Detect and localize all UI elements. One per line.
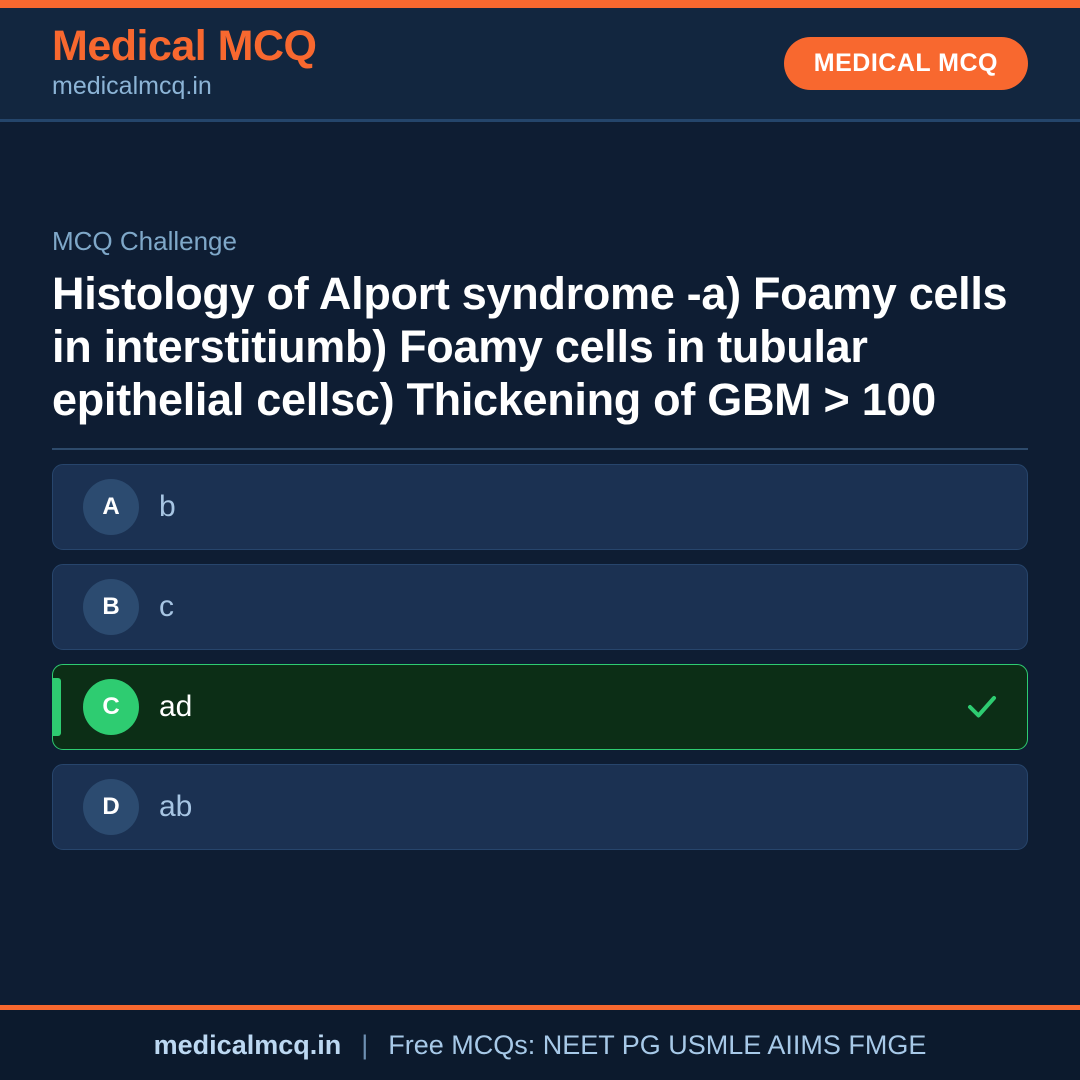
footer-separator: | (353, 1030, 376, 1061)
option-row-b[interactable]: B c (52, 564, 1028, 650)
question-text: Histology of Alport syndrome -a) Foamy c… (52, 267, 1028, 426)
option-row-d[interactable]: D ab (52, 764, 1028, 850)
option-text-d: ab (159, 789, 999, 825)
correct-accent-bar (53, 678, 61, 736)
option-badge-d: D (83, 779, 139, 835)
options-list: A b B c C (52, 464, 1028, 850)
top-accent-bar (0, 0, 1080, 8)
section-divider (52, 448, 1028, 450)
option-badge-c: C (83, 679, 139, 735)
page-footer: medicalmcq.in | Free MCQs: NEET PG USMLE… (0, 1005, 1080, 1080)
header-badge-pill: MEDICAL MCQ (784, 37, 1028, 90)
main-content: MCQ Challenge Histology of Alport syndro… (0, 122, 1080, 1005)
option-text-b: c (159, 589, 999, 625)
option-row-c[interactable]: C ad (52, 664, 1028, 750)
check-icon (965, 690, 999, 724)
footer-site-label: medicalmcq.in (154, 1030, 342, 1061)
footer-tags-label: Free MCQs: NEET PG USMLE AIIMS FMGE (388, 1030, 926, 1061)
brand-subtitle: medicalmcq.in (52, 71, 317, 102)
footer-bar: medicalmcq.in | Free MCQs: NEET PG USMLE… (0, 1010, 1080, 1080)
option-badge-b: B (83, 579, 139, 635)
eyebrow-label: MCQ Challenge (52, 226, 1028, 257)
option-text-a: b (159, 489, 999, 525)
option-row-a[interactable]: A b (52, 464, 1028, 550)
brand-block: Medical MCQ medicalmcq.in (52, 24, 317, 102)
mcq-card-page: Medical MCQ medicalmcq.in MEDICAL MCQ MC… (0, 0, 1080, 1080)
option-badge-a: A (83, 479, 139, 535)
brand-title: Medical MCQ (52, 24, 317, 69)
page-header: Medical MCQ medicalmcq.in MEDICAL MCQ (0, 8, 1080, 122)
option-text-c: ad (159, 689, 965, 725)
